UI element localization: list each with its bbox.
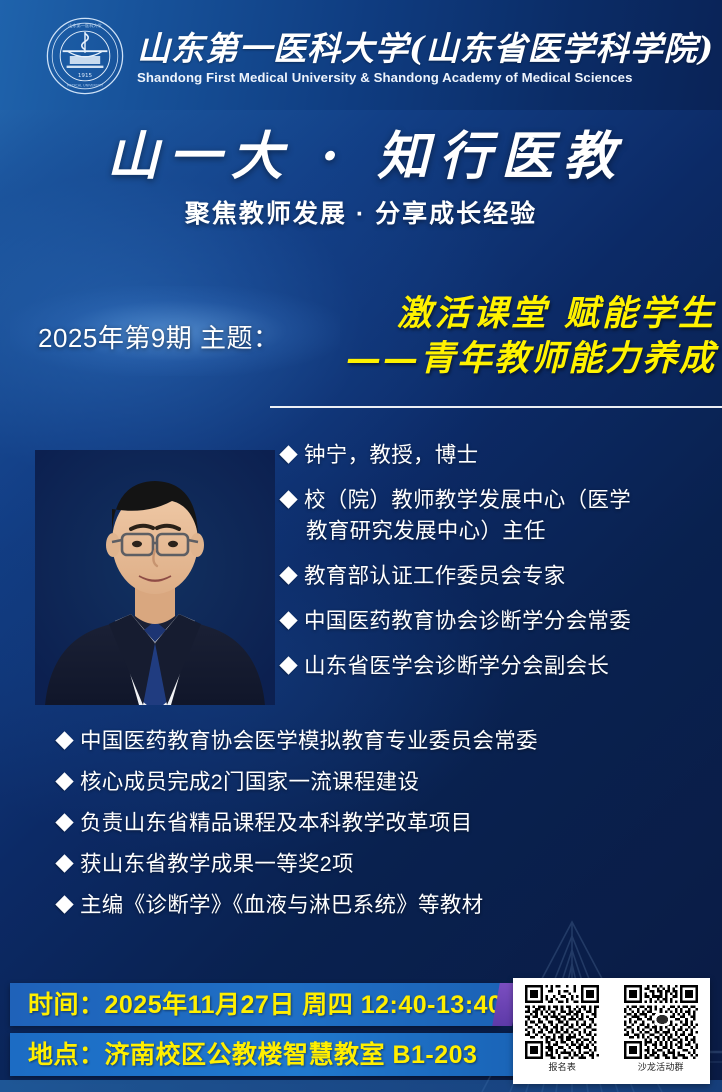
header-content: 1915 山东第一医科大学 MEDICAL UNIVERSITY 山东第一医科大… (45, 16, 714, 96)
bullet-text: 主编《诊断学》《血液与淋巴系统》等教材 (80, 890, 483, 920)
list-item: 教育部认证工作委员会专家 (282, 561, 720, 592)
place-bar: 地点：济南校区公教楼智慧教室 B1-203 (10, 1033, 530, 1076)
header-text-block: 山东第一医科大学(山东省医学科学院) Shandong First Medica… (137, 27, 714, 86)
svg-text:MEDICAL UNIVERSITY: MEDICAL UNIVERSITY (67, 83, 104, 87)
university-name-cn: 山东第一医科大学(山东省医学科学院) (137, 29, 714, 69)
diamond-bullet-icon (55, 772, 73, 790)
poster-main-title: 山一大 · 知行医教 (0, 126, 722, 188)
diamond-bullet-icon (279, 490, 297, 508)
list-item: 负责山东省精品课程及本科教学改革项目 (58, 808, 708, 838)
university-name-en: Shandong First Medical University & Shan… (137, 70, 714, 86)
bullet-text: 中国医药教育协会诊断学分会常委 (304, 606, 631, 637)
bullet-text-line2: 教育研究发展中心）主任 (304, 516, 631, 547)
list-item: 获山东省教学成果一等奖2项 (58, 849, 708, 879)
list-item: 中国医药教育协会诊断学分会常委 (282, 606, 720, 637)
theme-block: 激活课堂 赋能学生 ——青年教师能力养成 (296, 292, 716, 382)
diamond-bullet-icon (55, 731, 73, 749)
qr-code-icon[interactable] (525, 985, 599, 1059)
diamond-bullet-icon (279, 566, 297, 584)
list-item: 核心成员完成2门国家一流课程建设 (58, 767, 708, 797)
bullet-text-line1: 校（院）教师教学发展中心（医学 (304, 488, 631, 512)
diamond-bullet-icon (279, 611, 297, 629)
place-text: 地点：济南校区公教楼智慧教室 B1-203 (28, 1040, 477, 1070)
bullet-text: 钟宁，教授，博士 (304, 440, 478, 471)
qr-code-icon[interactable] (624, 985, 698, 1059)
qr-item-group[interactable]: 沙龙活动群 (620, 985, 702, 1073)
divider-line (270, 406, 722, 408)
university-emblem-icon: 1915 山东第一医科大学 MEDICAL UNIVERSITY (45, 16, 125, 96)
bullet-text: 核心成员完成2门国家一流课程建设 (80, 767, 419, 797)
bullet-text: 教育部认证工作委员会专家 (304, 561, 566, 592)
diamond-bullet-icon (55, 895, 73, 913)
list-item: 中国医药教育协会医学模拟教育专业委员会常委 (58, 726, 708, 756)
list-item: 山东省医学会诊断学分会副会长 (282, 651, 720, 682)
svg-text:1915: 1915 (78, 73, 93, 79)
bullet-text: 山东省医学会诊断学分会副会长 (304, 651, 609, 682)
bullet-text: 获山东省教学成果一等奖2项 (80, 849, 354, 879)
bullet-text: 中国医药教育协会医学模拟教育专业委员会常委 (80, 726, 538, 756)
poster-root: 1915 山东第一医科大学 MEDICAL UNIVERSITY 山东第一医科大… (0, 0, 722, 1092)
qr-item-signup[interactable]: 报名表 (521, 985, 603, 1073)
title-zone: 山一大 · 知行医教 聚焦教师发展 · 分享成长经验 (0, 126, 722, 230)
bullet-text: 校（院）教师教学发展中心（医学 教育研究发展中心）主任 (304, 485, 631, 547)
diamond-bullet-icon (55, 854, 73, 872)
qr-card: 报名表 (513, 978, 710, 1084)
issue-label: 2025年第9期 主题： (38, 320, 280, 356)
diamond-bullet-icon (279, 445, 297, 463)
poster-sub-title: 聚焦教师发展 · 分享成长经验 (0, 198, 722, 230)
theme-line-1: 激活课堂 赋能学生 (296, 292, 716, 336)
time-text: 时间：2025年11月27日 周四 12:40-13:40 (28, 990, 502, 1020)
diamond-bullet-icon (279, 656, 297, 674)
diamond-bullet-icon (55, 813, 73, 831)
list-item: 钟宁，教授，博士 (282, 440, 720, 471)
list-item: 主编《诊断学》《血液与淋巴系统》等教材 (58, 890, 708, 920)
theme-line-2: ——青年教师能力养成 (296, 336, 716, 382)
speaker-bullets-full: 中国医药教育协会医学模拟教育专业委员会常委 核心成员完成2门国家一流课程建设 负… (58, 726, 708, 931)
qr-caption: 沙龙活动群 (638, 1061, 684, 1073)
speaker-portrait (35, 450, 275, 705)
svg-text:山东第一医科大学: 山东第一医科大学 (68, 22, 101, 28)
qr-caption: 报名表 (548, 1061, 576, 1073)
header-bar: 1915 山东第一医科大学 MEDICAL UNIVERSITY 山东第一医科大… (0, 0, 722, 110)
time-bar: 时间：2025年11月27日 周四 12:40-13:40 (10, 983, 500, 1026)
speaker-bullets-right: 钟宁，教授，博士 校（院）教师教学发展中心（医学 教育研究发展中心）主任 教育部… (282, 440, 720, 696)
bullet-text: 负责山东省精品课程及本科教学改革项目 (80, 808, 472, 838)
list-item: 校（院）教师教学发展中心（医学 教育研究发展中心）主任 (282, 485, 720, 547)
